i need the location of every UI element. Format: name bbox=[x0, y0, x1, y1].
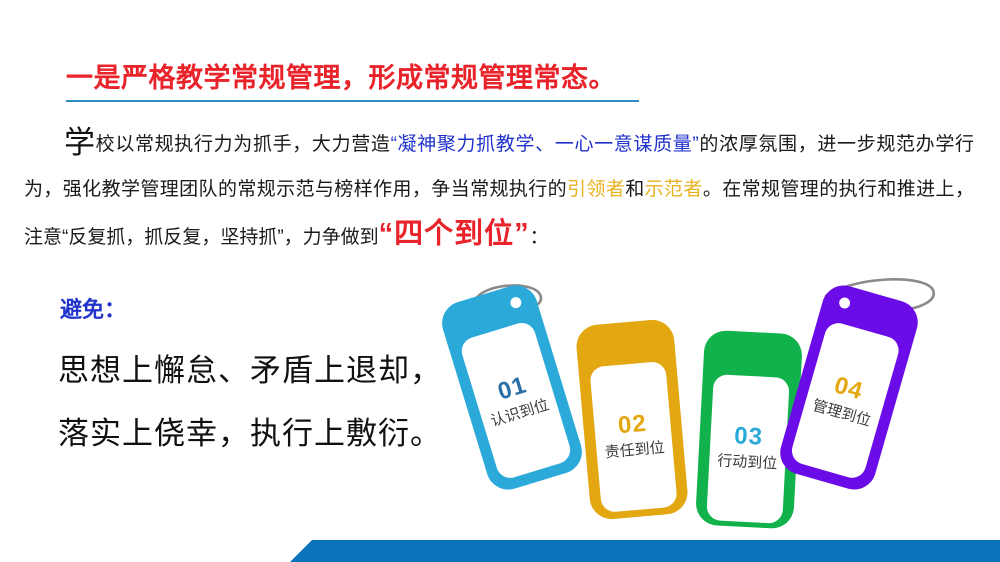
body-quote-highlight: “凝神聚力抓教学、一心一意谋质量” bbox=[391, 134, 699, 155]
tag-inner-panel: 01 认识到位 bbox=[458, 319, 573, 481]
bottom-accent-bar bbox=[0, 540, 1000, 562]
tag-label: 认识到位 bbox=[489, 396, 552, 433]
body-paragraph: 学校以常规执行力为抓手，大力营造“凝神聚力抓教学、一心一意谋质量”的浓厚氛围，进… bbox=[24, 122, 974, 260]
avoid-line-2: 落实上侥幸，执行上敷衍。 bbox=[58, 408, 442, 453]
tag-hole-icon bbox=[509, 296, 523, 310]
tag-card-02[interactable]: 02 责任到位 bbox=[575, 318, 690, 521]
body-segment-5: ： bbox=[530, 227, 549, 248]
tag-inner-panel: 04 管理到位 bbox=[789, 320, 902, 481]
tag-number: 01 bbox=[495, 373, 530, 405]
tag-number: 04 bbox=[831, 373, 866, 405]
tag-card-04[interactable]: 04 管理到位 bbox=[775, 280, 923, 494]
tag-inner-panel: 03 行动到位 bbox=[706, 374, 790, 524]
tag-card-01[interactable]: 01 认识到位 bbox=[437, 280, 588, 495]
tag-label: 管理到位 bbox=[810, 396, 873, 432]
title-underline-rule bbox=[66, 100, 639, 102]
body-highlight-model: 示范者 bbox=[645, 179, 703, 200]
body-emphasis-four-points: “四个到位” bbox=[379, 218, 530, 250]
slide-canvas: 一是严格教学常规管理，形成常规管理常态。 学校以常规执行力为抓手，大力营造“凝神… bbox=[0, 0, 1000, 562]
body-highlight-leader: 引领者 bbox=[567, 179, 625, 200]
tag-inner-panel: 02 责任到位 bbox=[589, 361, 677, 513]
body-segment-1: 校以常规执行力为抓手，大力营造 bbox=[96, 134, 391, 155]
tag-label: 责任到位 bbox=[604, 439, 666, 464]
tag-number: 03 bbox=[734, 424, 764, 451]
avoid-label: 避免： bbox=[60, 292, 126, 324]
tag-label: 行动到位 bbox=[717, 452, 778, 475]
body-segment-3: 和 bbox=[625, 179, 644, 200]
tag-hole-icon bbox=[838, 296, 852, 310]
tag-cluster: 01 认识到位 02 责任到位 03 行动到位 04 管理到位 bbox=[455, 270, 1000, 525]
avoid-line-1: 思想上懈怠、矛盾上退却， bbox=[58, 345, 442, 390]
tag-number: 02 bbox=[617, 411, 648, 439]
drop-cap: 学 bbox=[24, 125, 96, 160]
page-title: 一是严格教学常规管理，形成常规管理常态。 bbox=[66, 56, 616, 95]
